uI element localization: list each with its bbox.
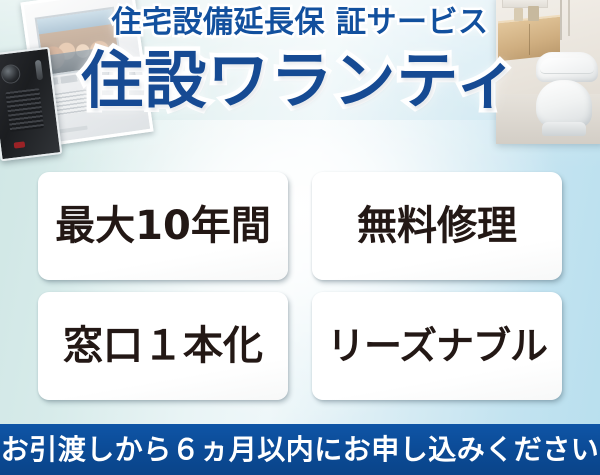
feature-card-single-desk: 窓口１本化 [38, 292, 288, 400]
bath-rod-right [568, 0, 570, 36]
cta-text: お引渡しから６ヵ月以内にお申し込みください [1, 436, 600, 464]
door-camera-lens [0, 63, 21, 84]
toilet-lid [540, 58, 594, 74]
feature-card-max-years: 最大10年間 [38, 172, 288, 280]
toilet-bowl [536, 80, 592, 128]
door-light-strip [35, 60, 43, 81]
bathroom-toilet-photo [496, 0, 600, 144]
shelf-item-b [528, 6, 539, 21]
toilet-base [542, 122, 586, 136]
feature-label-max-years: 最大10年間 [55, 206, 271, 246]
feature-card-free-repair: 無料修理 [312, 172, 562, 280]
feature-label-single-desk: 窓口１本化 [63, 326, 263, 366]
feature-grid: 最大10年間 無料修理 窓口１本化 リーズナブル [38, 172, 562, 400]
door-speaker-grille [5, 88, 44, 132]
cta-bar: お引渡しから６ヵ月以内にお申し込みください [0, 424, 600, 475]
bath-mirror [502, 0, 548, 8]
shelf-item-a [514, 8, 523, 21]
feature-label-free-repair: 無料修理 [357, 206, 517, 246]
door-call-button [14, 141, 26, 148]
feature-label-reasonable: リーズナブル [327, 327, 547, 365]
promo-banner: 住宅設備延長保 証サービス 住設ワランティ 最大10年間 無料修理 窓口１本化 … [0, 0, 600, 475]
bath-rod-left [560, 0, 562, 40]
feature-card-reasonable: リーズナブル [312, 292, 562, 400]
